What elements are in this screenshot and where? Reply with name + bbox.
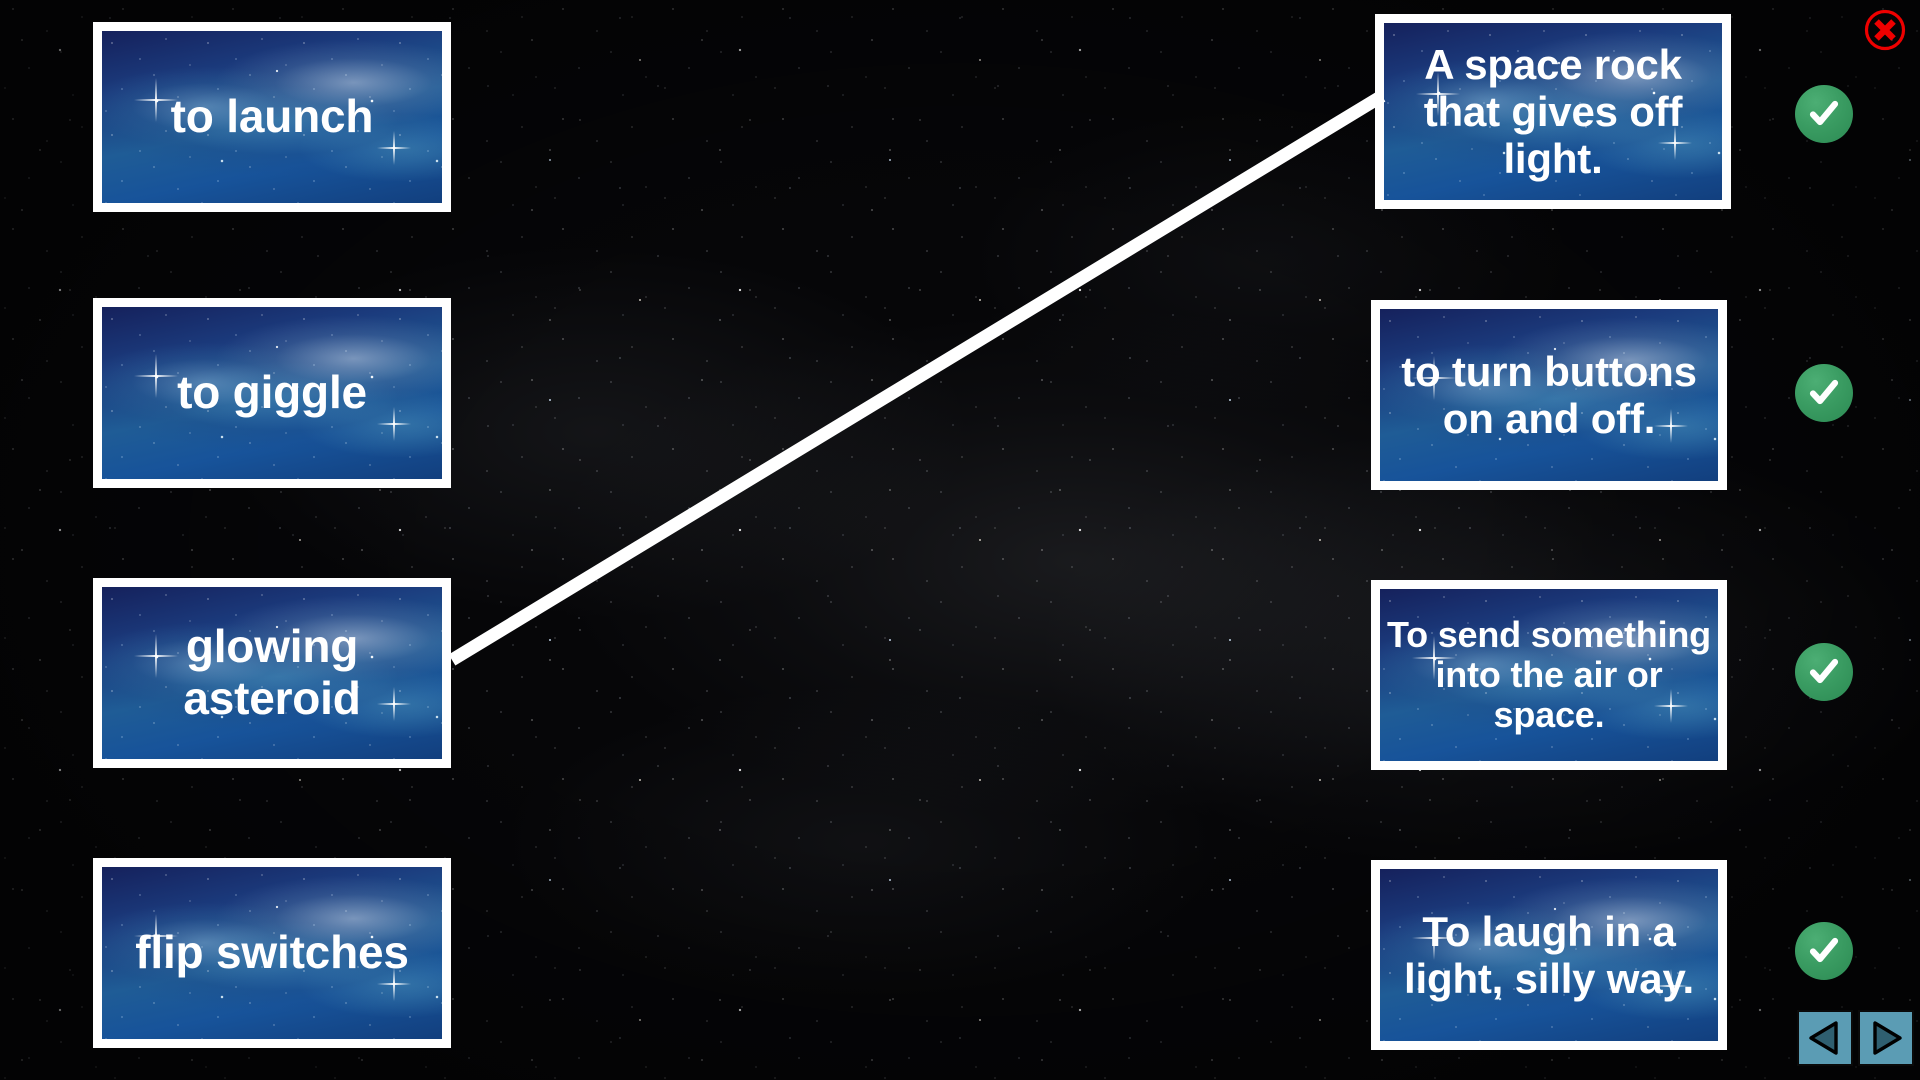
previous-button[interactable] — [1797, 1010, 1853, 1066]
close-icon — [1863, 8, 1907, 52]
status-badge-correct-2 — [1795, 364, 1853, 422]
close-button[interactable] — [1862, 7, 1908, 53]
term-card-to-giggle[interactable]: to giggle — [93, 298, 451, 488]
definition-card-laugh-silly[interactable]: To laugh in a light, silly way. — [1371, 860, 1727, 1050]
card-surface: To send something into the air or space. — [1380, 589, 1718, 761]
card-surface: flip switches — [102, 867, 442, 1039]
card-label: to giggle — [102, 367, 442, 419]
next-button[interactable] — [1858, 1010, 1914, 1066]
term-card-flip-switches[interactable]: flip switches — [93, 858, 451, 1048]
definition-card-space-rock[interactable]: A space rock that gives off light. — [1375, 14, 1731, 209]
definition-card-send-into-space[interactable]: To send something into the air or space. — [1371, 580, 1727, 770]
definition-card-turn-buttons[interactable]: to turn buttons on and off. — [1371, 300, 1727, 490]
card-label: glowing asteroid — [102, 621, 442, 724]
status-badge-correct-3 — [1795, 643, 1853, 701]
card-surface: To laugh in a light, silly way. — [1380, 869, 1718, 1041]
card-surface: glowing asteroid — [102, 587, 442, 759]
card-surface: to turn buttons on and off. — [1380, 309, 1718, 481]
term-card-glowing-asteroid[interactable]: glowing asteroid — [93, 578, 451, 768]
triangle-right-icon — [1866, 1018, 1906, 1058]
status-badge-correct-4 — [1795, 922, 1853, 980]
card-label: To laugh in a light, silly way. — [1380, 908, 1718, 1002]
card-label: to turn buttons on and off. — [1380, 348, 1718, 442]
card-surface: to giggle — [102, 307, 442, 479]
match-line-stroke — [452, 96, 1382, 660]
card-label: to launch — [102, 91, 442, 143]
check-icon — [1807, 97, 1841, 131]
card-surface: to launch — [102, 31, 442, 203]
check-icon — [1807, 376, 1841, 410]
term-card-to-launch[interactable]: to launch — [93, 22, 451, 212]
check-icon — [1807, 934, 1841, 968]
check-icon — [1807, 655, 1841, 689]
card-surface: A space rock that gives off light. — [1384, 23, 1722, 200]
card-label: A space rock that gives off light. — [1384, 41, 1722, 182]
activity-stage: to launch to giggle glowing asteroid — [0, 0, 1920, 1080]
triangle-left-icon — [1805, 1018, 1845, 1058]
card-label: flip switches — [102, 927, 442, 979]
status-badge-correct-1 — [1795, 85, 1853, 143]
card-label: To send something into the air or space. — [1380, 615, 1718, 736]
